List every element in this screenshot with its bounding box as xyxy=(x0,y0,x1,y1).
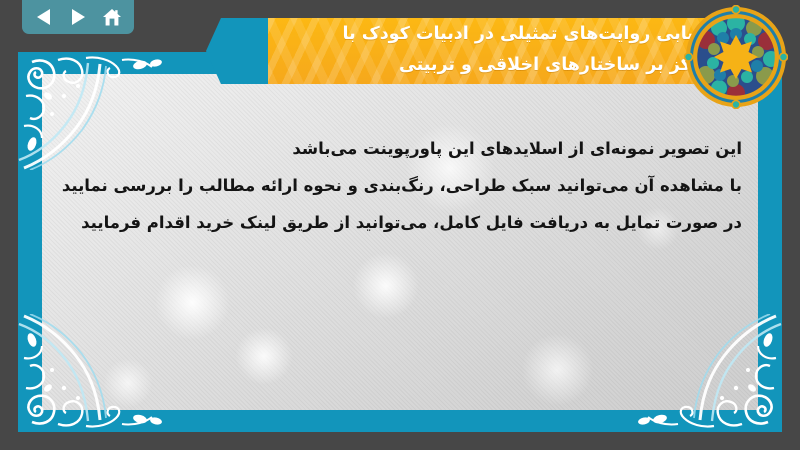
home-button[interactable] xyxy=(98,4,126,30)
navigation-bar xyxy=(22,0,134,34)
slide-viewer: ارزیابی روایت‌های تمثیلی در ادبیات کودک … xyxy=(0,0,800,450)
previous-slide-button[interactable] xyxy=(30,4,58,30)
next-slide-button[interactable] xyxy=(64,4,92,30)
title-banner: ارزیابی روایت‌های تمثیلی در ادبیات کودک … xyxy=(268,18,732,84)
body-line-2: با مشاهده آن می‌توانید سبک طراحی، رنگ‌بن… xyxy=(60,167,742,204)
slide-frame xyxy=(18,52,782,432)
left-arrow-icon xyxy=(36,8,52,26)
right-arrow-icon xyxy=(70,8,86,26)
slide-body-text: این تصویر نمونه‌ای از اسلایدهای این پاور… xyxy=(60,130,760,241)
home-icon xyxy=(102,8,122,27)
slide-content-area xyxy=(42,74,758,410)
persian-medallion-ornament xyxy=(684,5,788,109)
body-line-1: این تصویر نمونه‌ای از اسلایدهای این پاور… xyxy=(60,130,742,167)
page-title: ارزیابی روایت‌های تمثیلی در ادبیات کودک … xyxy=(268,19,724,81)
body-line-3: در صورت تمایل به دریافت فایل کامل، می‌تو… xyxy=(60,204,742,241)
